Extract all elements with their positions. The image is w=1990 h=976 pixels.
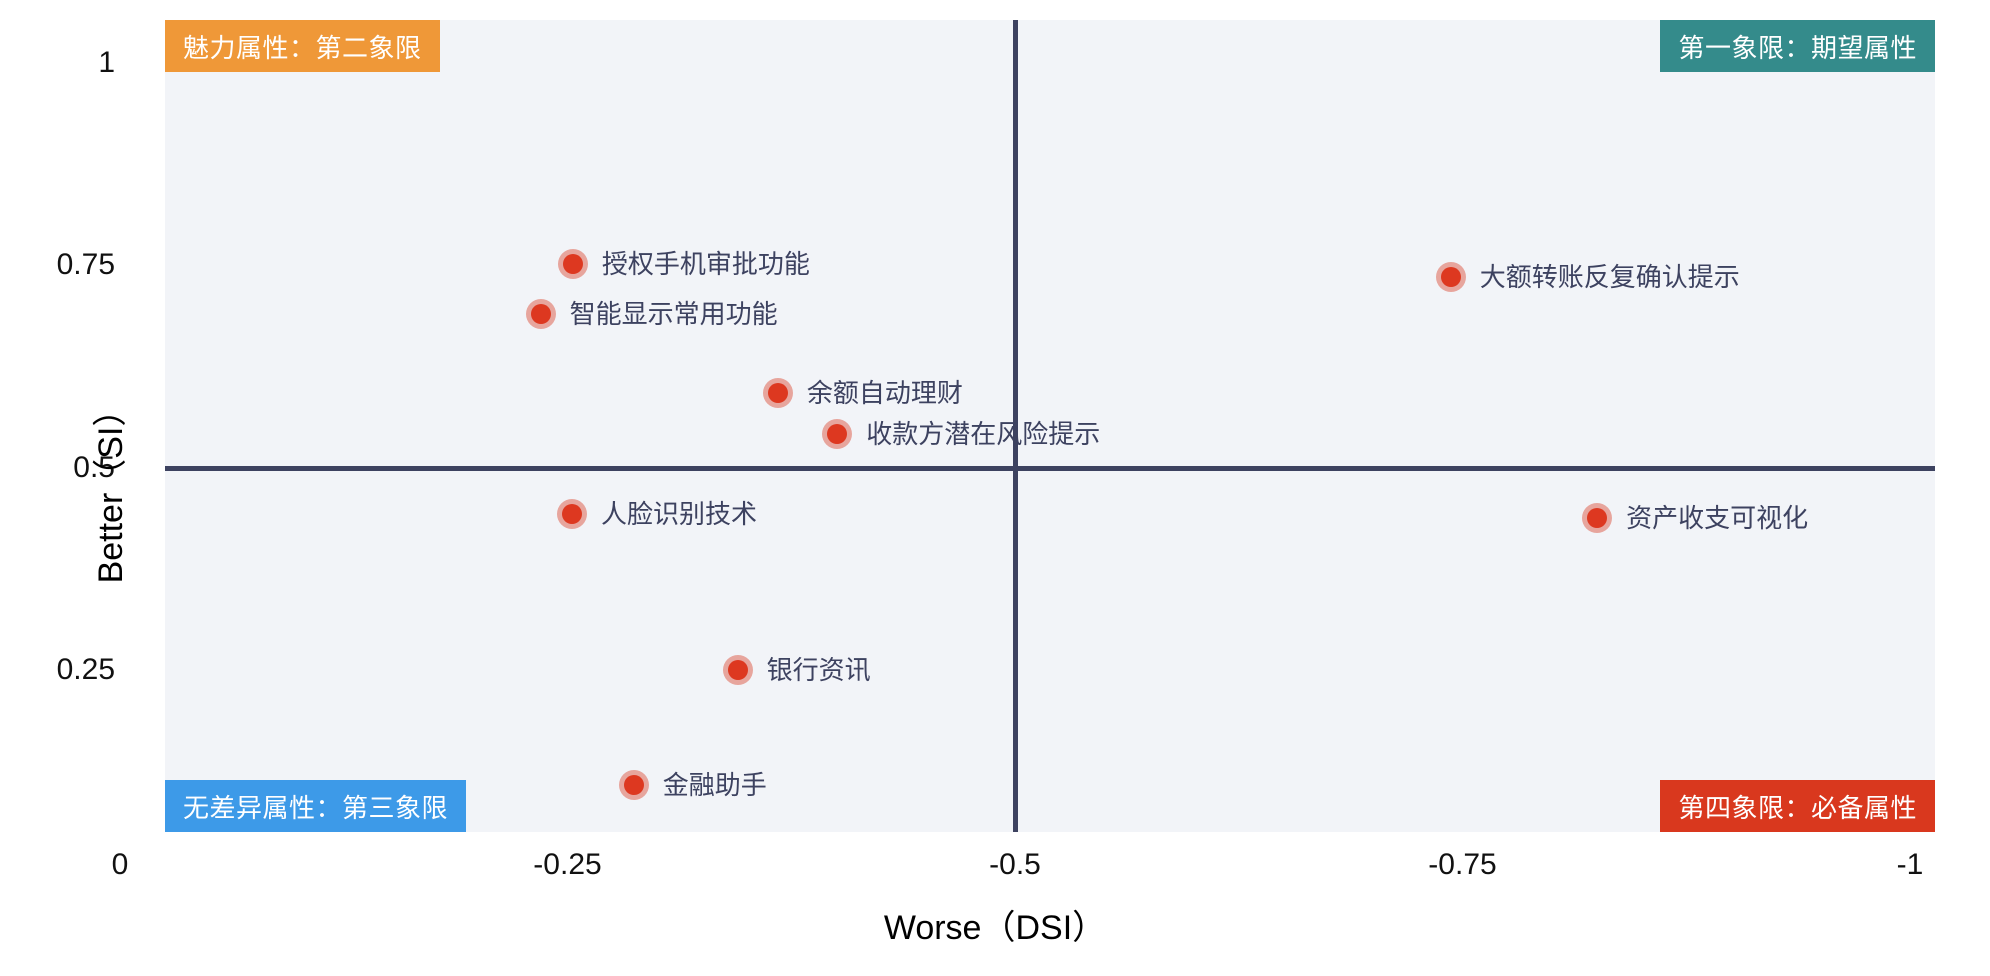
data-point-marker-icon bbox=[822, 419, 852, 449]
x-axis-tick-label: -0.5 bbox=[989, 848, 1041, 882]
data-point-marker-icon bbox=[526, 299, 556, 329]
y-axis-tick-label: 1 bbox=[0, 46, 115, 80]
data-point-label: 金融助手 bbox=[663, 772, 767, 798]
quadrant-label-attractive: 魅力属性：第二象限 bbox=[165, 20, 440, 72]
data-point-label: 资产收支可视化 bbox=[1626, 505, 1808, 531]
data-point-marker-icon bbox=[1582, 503, 1612, 533]
quadrant-label-must-be: 第四象限：必备属性 bbox=[1660, 780, 1935, 832]
data-point-label: 智能显示常用功能 bbox=[570, 301, 778, 327]
y-axis-tick-label: 0.25 bbox=[0, 653, 115, 687]
data-point-marker-icon bbox=[558, 249, 588, 279]
quadrant-label-performance: 第一象限：期望属性 bbox=[1660, 20, 1935, 72]
data-point[interactable]: 授权手机审批功能 bbox=[558, 249, 810, 279]
data-point-label: 银行资讯 bbox=[767, 657, 871, 683]
data-point-marker-icon bbox=[763, 378, 793, 408]
data-point[interactable]: 人脸识别技术 bbox=[557, 499, 757, 529]
horizontal-axis-line bbox=[165, 466, 1935, 471]
data-point[interactable]: 资产收支可视化 bbox=[1582, 503, 1808, 533]
y-axis-tick-label: 0.75 bbox=[0, 248, 115, 282]
y-axis-title: Better（SI） bbox=[83, 393, 132, 584]
data-point-marker-icon bbox=[1436, 262, 1466, 292]
data-point-label: 余额自动理财 bbox=[807, 380, 963, 406]
data-point-label: 收款方潜在风险提示 bbox=[866, 421, 1100, 447]
data-point[interactable]: 银行资讯 bbox=[723, 655, 871, 685]
data-point-marker-icon bbox=[723, 655, 753, 685]
x-axis-tick-label: 0 bbox=[112, 848, 129, 882]
data-point[interactable]: 余额自动理财 bbox=[763, 378, 963, 408]
data-point-marker-icon bbox=[557, 499, 587, 529]
x-axis-tick-label: -0.25 bbox=[533, 848, 601, 882]
data-point-label: 人脸识别技术 bbox=[601, 501, 757, 527]
x-axis-tick-label: -1 bbox=[1897, 848, 1924, 882]
quadrant-label-indifferent: 无差异属性：第三象限 bbox=[165, 780, 466, 832]
data-point-label: 授权手机审批功能 bbox=[602, 251, 810, 277]
plot-area: 魅力属性：第二象限 第一象限：期望属性 无差异属性：第三象限 第四象限：必备属性… bbox=[165, 20, 1935, 832]
data-point[interactable]: 智能显示常用功能 bbox=[526, 299, 778, 329]
data-point[interactable]: 收款方潜在风险提示 bbox=[822, 419, 1100, 449]
x-axis-title: Worse（DSI） bbox=[0, 900, 1990, 949]
data-point-label: 大额转账反复确认提示 bbox=[1480, 264, 1740, 290]
data-point[interactable]: 金融助手 bbox=[619, 770, 767, 800]
kano-quadrant-chart: 魅力属性：第二象限 第一象限：期望属性 无差异属性：第三象限 第四象限：必备属性… bbox=[0, 0, 1990, 976]
data-point[interactable]: 大额转账反复确认提示 bbox=[1436, 262, 1740, 292]
data-point-marker-icon bbox=[619, 770, 649, 800]
x-axis-tick-label: -0.75 bbox=[1428, 848, 1496, 882]
